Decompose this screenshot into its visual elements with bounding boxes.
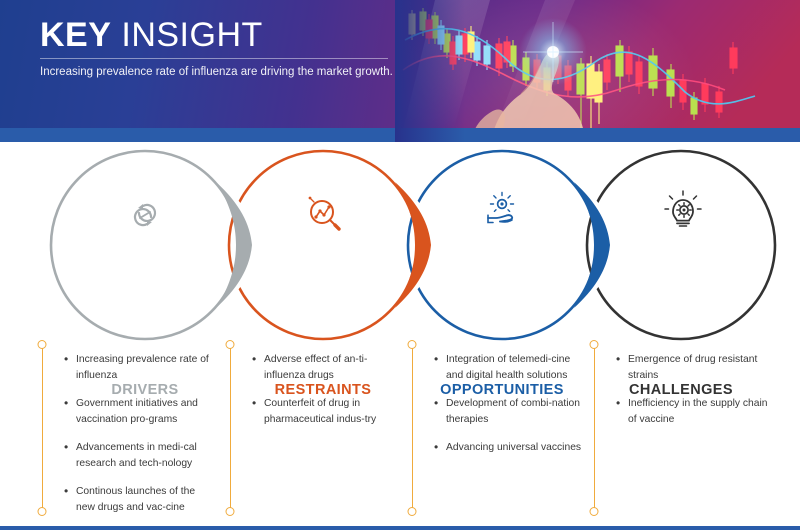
bullet-marker-icon: • bbox=[64, 396, 76, 427]
bullet-text: Advancements in medi-cal research and te… bbox=[76, 440, 214, 471]
bullet-text: Continous launches of the new drugs and … bbox=[76, 484, 214, 515]
bullet-column-restraints: • Adverse effect of an-ti-influenza drug… bbox=[252, 352, 402, 440]
list-item: • Emergence of drug resistant strains bbox=[616, 352, 768, 383]
bullet-marker-icon: • bbox=[252, 396, 264, 427]
header-photo bbox=[395, 0, 800, 142]
lightbulb-gear-icon bbox=[665, 191, 701, 226]
pin-dot-bottom bbox=[226, 507, 235, 516]
list-item: • Integration of telemedi-cine and digit… bbox=[434, 352, 586, 383]
bullet-marker-icon: • bbox=[434, 440, 446, 456]
bullet-column-drivers: • Increasing prevalence rate of influenz… bbox=[64, 352, 214, 528]
pin-dot-top bbox=[590, 340, 599, 349]
flow-circles-and-arrows: ∝ bbox=[0, 142, 800, 354]
bullet-text: Development of combi-nation therapies bbox=[446, 396, 586, 427]
pin-dot-top bbox=[408, 340, 417, 349]
pin-line bbox=[412, 344, 413, 510]
bullet-text: Integration of telemedi-cine and digital… bbox=[446, 352, 586, 383]
infographic-page: KEY INSIGHT Increasing prevalence rate o… bbox=[0, 0, 800, 530]
photo-fade-overlay bbox=[395, 0, 465, 142]
bullet-marker-icon: • bbox=[64, 352, 76, 383]
bullet-text: Emergence of drug resistant strains bbox=[628, 352, 768, 383]
list-item: • Development of combi-nation therapies bbox=[434, 396, 586, 427]
list-item: • Advancements in medi-cal research and … bbox=[64, 440, 214, 471]
circle-drivers[interactable] bbox=[51, 151, 239, 339]
flow-diagram: ∝ bbox=[0, 142, 800, 354]
list-item: • Adverse effect of an-ti-influenza drug… bbox=[252, 352, 402, 383]
hand-idea-sun-icon bbox=[488, 193, 514, 223]
bullet-text: Increasing prevalence rate of influenza bbox=[76, 352, 214, 383]
bullet-marker-icon: • bbox=[616, 396, 628, 427]
bullet-marker-icon: • bbox=[252, 352, 264, 383]
pin-dot-bottom bbox=[590, 507, 599, 516]
bullet-text: Government initiatives and vaccination p… bbox=[76, 396, 214, 427]
pin-dot-bottom bbox=[38, 507, 47, 516]
pin-line bbox=[42, 344, 43, 510]
magnifier-chart-icon bbox=[309, 197, 339, 229]
pin-dot-bottom bbox=[408, 507, 417, 516]
bullet-text: Counterfeit of drug in pharmaceutical in… bbox=[264, 396, 402, 427]
bullet-text: Adverse effect of an-ti-influenza drugs bbox=[264, 352, 402, 383]
circle-opportunities[interactable] bbox=[408, 151, 596, 339]
pin-line bbox=[230, 344, 231, 510]
pin-dot-top bbox=[38, 340, 47, 349]
pin-dot-top bbox=[226, 340, 235, 349]
bullet-column-opportunities: • Integration of telemedi-cine and digit… bbox=[434, 352, 586, 469]
page-title-rest: INSIGHT bbox=[111, 16, 262, 54]
list-item: • Increasing prevalence rate of influenz… bbox=[64, 352, 214, 383]
bullet-column-challenges: • Emergence of drug resistant strains • … bbox=[616, 352, 768, 440]
list-item: • Counterfeit of drug in pharmaceutical … bbox=[252, 396, 402, 427]
circle-restraints[interactable] bbox=[229, 151, 417, 339]
circle-challenges[interactable] bbox=[587, 151, 775, 339]
list-item: • Inefficiency in the supply chain of va… bbox=[616, 396, 768, 427]
bullet-marker-icon: • bbox=[434, 396, 446, 427]
list-item: • Continous launches of the new drugs an… bbox=[64, 484, 214, 515]
bullet-marker-icon: • bbox=[434, 352, 446, 383]
bullet-marker-icon: • bbox=[616, 352, 628, 383]
bullet-marker-icon: • bbox=[64, 440, 76, 471]
page-title: KEY INSIGHT bbox=[40, 16, 263, 55]
list-item: • Government initiatives and vaccination… bbox=[64, 396, 214, 427]
footer-accent-bar bbox=[0, 526, 800, 530]
list-item: • Advancing universal vaccines bbox=[434, 440, 586, 456]
bullet-marker-icon: • bbox=[64, 484, 76, 515]
arrow-opportunities-to-challenges bbox=[570, 176, 614, 314]
pin-line bbox=[594, 344, 595, 510]
arrow-restraints-to-opportunities bbox=[391, 176, 435, 314]
bullet-text: Advancing universal vaccines bbox=[446, 440, 586, 456]
title-underline bbox=[40, 58, 388, 59]
header-banner: KEY INSIGHT Increasing prevalence rate o… bbox=[0, 0, 800, 142]
page-subtitle: Increasing prevalence rate of influenza … bbox=[40, 64, 400, 81]
page-title-bold: KEY bbox=[40, 16, 111, 54]
bullet-text: Inefficiency in the supply chain of vacc… bbox=[628, 396, 768, 427]
svg-text:∝: ∝ bbox=[139, 215, 143, 221]
